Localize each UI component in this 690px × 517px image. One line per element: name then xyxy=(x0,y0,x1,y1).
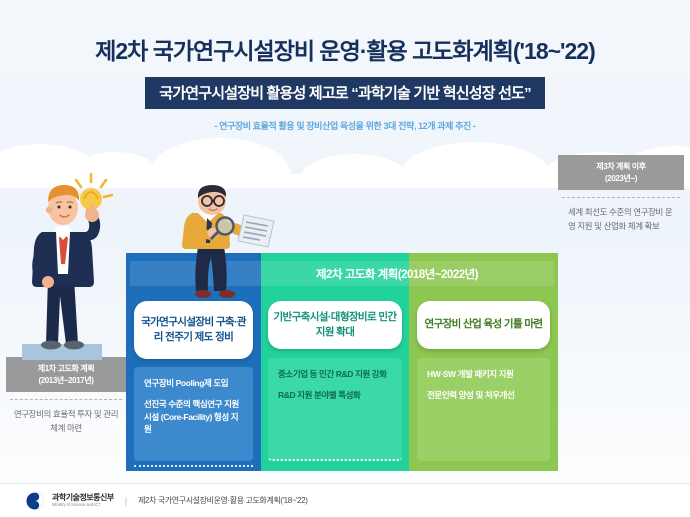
panel-next-header: 제3차 계획 이후 (2023년~) xyxy=(558,155,684,190)
panel-previous-body: 연구장비의 효율적 투자 및 관리 체계 마련 xyxy=(6,400,126,435)
strategy-tasks-1: 연구장비 Pooling제 도입 선진국 수준의 핵심연구 지원시설 (Core… xyxy=(134,367,253,461)
panel-previous-period: (2013년~2017년) xyxy=(10,375,122,387)
document-icon xyxy=(238,215,274,247)
panel-previous-plan: 제1차 고도화 계획 (2013년~2017년) 연구장비의 효율적 투자 및 … xyxy=(6,357,126,435)
strategy-title-3: 연구장비 산업 육성 기틀 마련 xyxy=(417,301,550,349)
footer-document-title: 제2차 국가연구시설장비운영·활용 고도화계획('18~'22) xyxy=(138,495,307,506)
ministry-name-en: Ministry of Science and ICT xyxy=(52,503,114,508)
strategy-title-1: 국가연구시설장비 구축·관리 전주기 제도 정비 xyxy=(134,301,253,359)
panel-next-body: 세계 최선도 수준의 연구장비 운영 지원 및 산업화 체계 확보 xyxy=(558,198,684,233)
legs xyxy=(195,247,226,291)
legs xyxy=(46,278,78,344)
page-title: 제2차 국가연구시설장비 운영·활용 고도화계획('18~'22) xyxy=(0,32,690,66)
shoe-right xyxy=(64,341,84,350)
dotted-divider xyxy=(134,465,253,467)
panel-next-plan: 제3차 계획 이후 (2023년~) 세계 최선도 수준의 연구장비 운영 지원… xyxy=(558,155,684,233)
hand-hip xyxy=(42,276,54,288)
subtitle-band: 국가연구시설장비 활용성 제고로 “과학기술 기반 혁신성장 선도” xyxy=(145,77,545,109)
task-item: 연구장비 Pooling제 도입 xyxy=(144,377,243,389)
panel-previous-title: 제1차 고도화 계획 xyxy=(10,363,122,375)
researcher-illustration xyxy=(168,185,286,307)
strategy-title-1-text: 국가연구시설장비 구축·관리 전주기 제도 정비 xyxy=(138,315,249,345)
ministry-name: 과학기술정보통신부 Ministry of Science and ICT xyxy=(52,494,114,507)
strategy-tasks-3: HW·SW 개발 패키지 지원 전문인력 양성 및 처우개선 xyxy=(417,358,550,461)
government-taegeuk-logo-icon xyxy=(26,492,44,510)
task-item: 전문인력 양성 및 처우개선 xyxy=(427,389,540,401)
shoe-right xyxy=(219,290,235,298)
task-item: R&D 지원 분야별 특성화 xyxy=(278,389,392,401)
tagline: - 연구장비 효율적 활용 및 장비산업 육성을 위한 3대 전략, 12개 과… xyxy=(0,119,690,132)
shoe-left xyxy=(41,341,61,350)
panel-previous-header: 제1차 고도화 계획 (2013년~2017년) xyxy=(6,357,126,392)
strategy-title-2-text: 기반구축시설·대형장비로 민간 지원 확대 xyxy=(272,310,398,340)
panel-next-title: 제3차 계획 이후 xyxy=(562,161,680,173)
strategy-title-2: 기반구축시설·대형장비로 민간 지원 확대 xyxy=(268,301,402,349)
header: 제2차 국가연구시설장비 운영·활용 고도화계획('18~'22) 국가연구시설… xyxy=(0,0,690,132)
panel-next-period: (2023년~) xyxy=(562,173,680,185)
footer-separator: | xyxy=(125,496,127,506)
businessman-idea-illustration xyxy=(18,168,122,360)
strategy-tasks-2: 중소기업 등 민간 R&D 지원 강화 R&D 지원 분야별 특성화 xyxy=(268,358,402,461)
strategy-title-3-text: 연구장비 산업 육성 기틀 마련 xyxy=(425,317,543,332)
subtitle-text: 국가연구시설장비 활용성 제고로 “과학기술 기반 혁신성장 선도” xyxy=(159,85,531,102)
task-item: 중소기업 등 민간 R&D 지원 강화 xyxy=(278,368,392,380)
stage-banner-label: 제2차 고도화 계획(2018년~2022년) xyxy=(316,266,478,282)
task-item: HW·SW 개발 패키지 지원 xyxy=(427,368,540,380)
footer: 과학기술정보통신부 Ministry of Science and ICT | … xyxy=(0,483,690,517)
platform xyxy=(22,344,102,360)
task-item: 선진국 수준의 핵심연구 지원시설 (Core-Facility) 형성 지원 xyxy=(144,398,243,435)
shoe-left xyxy=(195,290,211,298)
